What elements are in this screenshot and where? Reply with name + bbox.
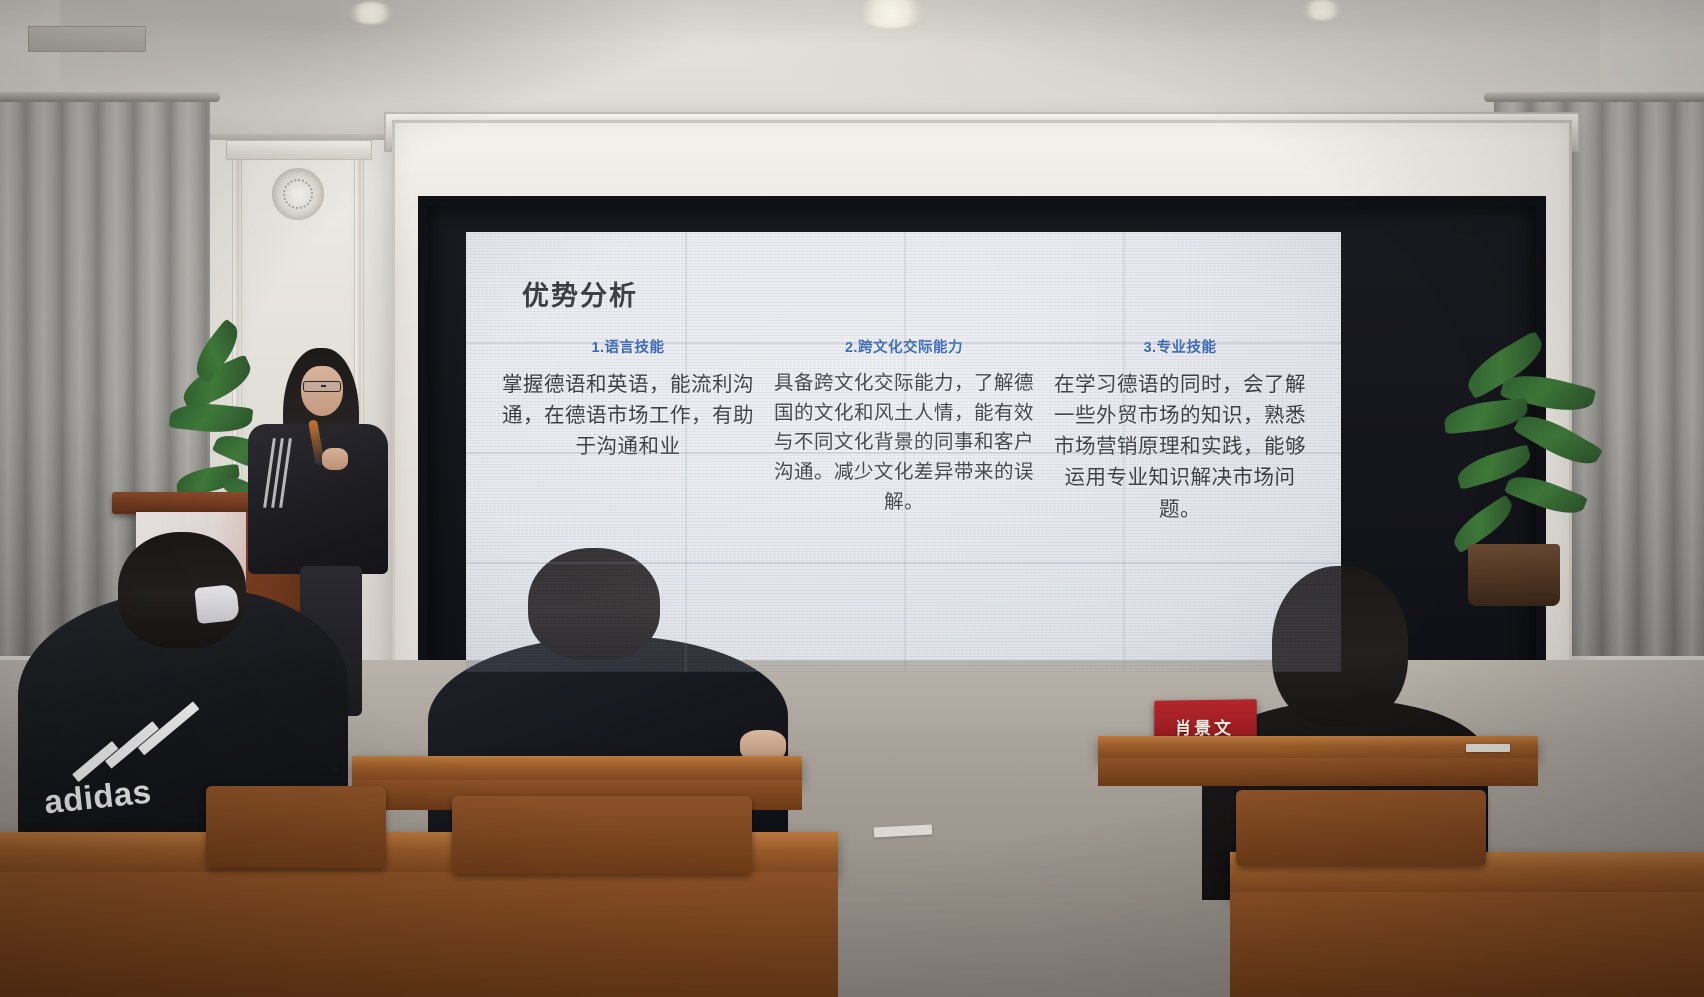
led-module-seam-v2	[904, 232, 906, 672]
desk-front-middle-right	[1098, 758, 1538, 786]
plant-leaf	[1513, 406, 1603, 474]
column-3-body: 在学习德语的同时，会了解一些外贸市场的知识，熟悉市场营销原理和实践，能够运用专业…	[1050, 369, 1310, 525]
ceiling-light-3	[1302, 0, 1342, 20]
paper-on-desk	[1466, 744, 1510, 752]
desk-row-middle-left	[352, 756, 802, 782]
desk-front-front-left	[0, 872, 838, 997]
chair-back-left	[206, 786, 386, 868]
presentation-room-photo: 优势分析 1.语言技能 掌握德语和英语，能流利沟通，在德语市场工作，有助于沟通和…	[0, 0, 1704, 997]
curtain-rod-left	[0, 92, 220, 102]
plant-leaf	[169, 400, 253, 436]
desk-front-front-right	[1230, 892, 1704, 997]
led-module-seam-v3	[1123, 232, 1125, 672]
ceiling-vent	[28, 26, 146, 52]
presentation-slide: 优势分析 1.语言技能 掌握德语和英语，能流利沟通，在德语市场工作，有助于沟通和…	[466, 232, 1341, 672]
plant-right	[1440, 330, 1620, 630]
chair-back-right	[1236, 790, 1486, 866]
speaker-hand	[322, 448, 348, 470]
ceiling-stain-right	[700, 0, 1600, 130]
pilaster-cap-left	[226, 140, 372, 160]
slide-column-3: 3.专业技能 在学习德语的同时，会了解一些外贸市场的知识，熟悉市场营销原理和实践…	[1042, 336, 1318, 656]
glasses-icon	[303, 381, 341, 392]
plant-pot	[1468, 544, 1560, 606]
column-3-heading: 3.专业技能	[1050, 336, 1310, 357]
slide-column-1: 1.语言技能 掌握德语和英语，能流利沟通，在德语市场工作，有助于沟通和业	[490, 336, 766, 656]
column-1-body: 掌握德语和英语，能流利沟通，在德语市场工作，有助于沟通和业	[498, 369, 758, 462]
name-plate-text: 肖景文	[1175, 713, 1234, 738]
led-module-seam-v1	[685, 232, 687, 672]
plant-leaf	[1504, 468, 1588, 522]
chair-back-center	[452, 796, 752, 874]
curtain-rod-right	[1484, 92, 1704, 102]
wall-medallion-left	[272, 168, 324, 220]
face-mask	[194, 584, 240, 624]
ceiling-light-1	[348, 2, 394, 24]
slide-title: 优势分析	[522, 274, 638, 313]
column-1-heading: 1.语言技能	[498, 336, 758, 357]
